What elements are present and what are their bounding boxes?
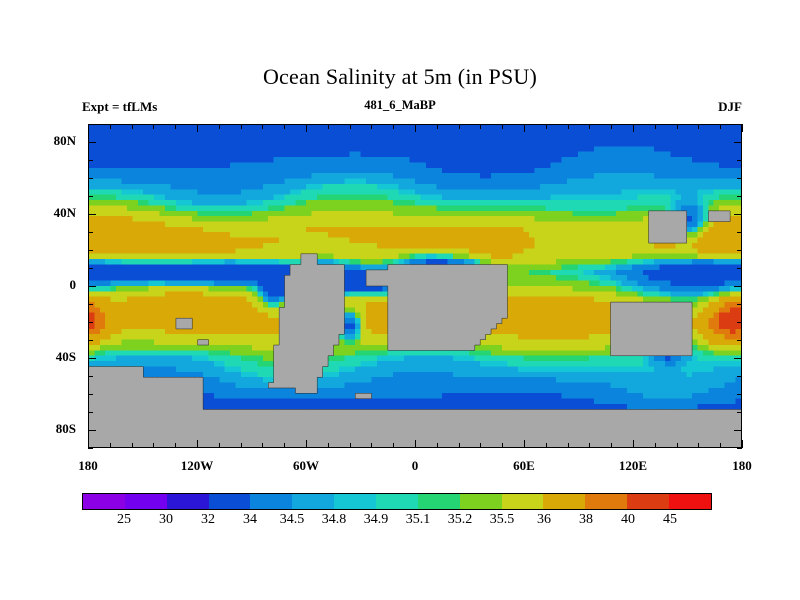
y-axis-minor-tick (737, 178, 742, 179)
y-axis-minor-tick (737, 160, 742, 161)
colorbar-tick-label: 34.9 (364, 512, 389, 528)
x-axis-minor-tick (153, 124, 154, 129)
y-axis-minor-tick (88, 196, 93, 197)
colorbar-swatch (334, 494, 376, 509)
y-axis-major-tick (734, 286, 742, 287)
x-axis-minor-tick (677, 124, 678, 129)
colorbar-labels: 2530323434.534.834.935.135.235.536384045 (0, 512, 800, 534)
x-axis-minor-tick (698, 443, 699, 448)
y-axis-major-tick (88, 358, 96, 359)
colorbar-swatch (418, 494, 460, 509)
x-axis-minor-tick (480, 443, 481, 448)
colorbar-tick-label: 38 (579, 512, 593, 528)
x-axis-minor-tick (328, 443, 329, 448)
y-axis-major-tick (88, 142, 96, 143)
y-axis-major-tick (88, 286, 96, 287)
x-axis-minor-tick (480, 124, 481, 129)
x-axis-minor-tick (720, 124, 721, 129)
x-axis-minor-tick (132, 124, 133, 129)
x-axis-minor-tick (350, 124, 351, 129)
x-axis-minor-tick (153, 443, 154, 448)
x-axis-minor-tick (655, 443, 656, 448)
x-axis-minor-tick (371, 124, 372, 129)
y-axis-minor-tick (88, 376, 93, 377)
y-axis-minor-tick (88, 322, 93, 323)
y-axis-major-tick (734, 430, 742, 431)
x-axis-minor-tick (262, 443, 263, 448)
x-axis-minor-tick (175, 124, 176, 129)
x-axis-major-tick (88, 440, 89, 448)
y-axis-minor-tick (737, 412, 742, 413)
x-axis-minor-tick (393, 443, 394, 448)
y-axis-minor-tick (88, 160, 93, 161)
x-axis-minor-tick (393, 124, 394, 129)
y-axis-tick-label: 40S (30, 349, 76, 365)
x-axis-minor-tick (284, 443, 285, 448)
x-axis-minor-tick (350, 443, 351, 448)
x-axis-minor-tick (262, 124, 263, 129)
x-axis-major-tick (306, 440, 307, 448)
x-axis-minor-tick (589, 124, 590, 129)
y-axis-minor-tick (737, 448, 742, 449)
x-axis-tick-label: 60W (276, 458, 336, 474)
x-axis-minor-tick (698, 124, 699, 129)
x-axis-minor-tick (655, 124, 656, 129)
x-axis-minor-tick (720, 443, 721, 448)
x-axis-minor-tick (546, 124, 547, 129)
colorbar-tick-label: 35.2 (448, 512, 473, 528)
colorbar (82, 493, 712, 510)
y-axis-minor-tick (737, 232, 742, 233)
colorbar-swatch (460, 494, 502, 509)
colorbar-swatch (585, 494, 627, 509)
y-axis-tick-label: 80S (30, 421, 76, 437)
x-axis-major-tick (633, 124, 634, 132)
x-axis-minor-tick (241, 443, 242, 448)
y-axis-minor-tick (88, 250, 93, 251)
y-axis-major-tick (734, 358, 742, 359)
x-axis-minor-tick (110, 124, 111, 129)
x-axis-minor-tick (437, 124, 438, 129)
colorbar-tick-label: 35.5 (490, 512, 515, 528)
colorbar-swatch (376, 494, 418, 509)
x-axis-minor-tick (132, 443, 133, 448)
x-axis-major-tick (524, 440, 525, 448)
y-axis-minor-tick (88, 268, 93, 269)
figure-canvas: Ocean Salinity at 5m (in PSU) Expt = tfL… (0, 0, 800, 600)
colorbar-tick-label: 32 (201, 512, 215, 528)
x-axis-minor-tick (459, 443, 460, 448)
y-axis-minor-tick (88, 340, 93, 341)
x-axis-minor-tick (175, 443, 176, 448)
y-axis-minor-tick (737, 376, 742, 377)
x-axis-major-tick (524, 124, 525, 132)
colorbar-swatch (83, 494, 125, 509)
y-axis-tick-label: 0 (30, 277, 76, 293)
colorbar-swatch (250, 494, 292, 509)
colorbar-tick-label: 30 (159, 512, 173, 528)
x-axis-tick-label: 60E (494, 458, 554, 474)
x-axis-minor-tick (241, 124, 242, 129)
x-axis-minor-tick (546, 443, 547, 448)
page-title: Ocean Salinity at 5m (in PSU) (0, 64, 800, 90)
colorbar-tick-label: 34.5 (280, 512, 305, 528)
colorbar-tick-label: 34 (243, 512, 257, 528)
x-axis-minor-tick (611, 124, 612, 129)
x-axis-major-tick (197, 124, 198, 132)
colorbar-tick-label: 34.8 (322, 512, 347, 528)
x-axis-tick-label: 180 (712, 458, 772, 474)
y-axis-tick-label: 40N (30, 205, 76, 221)
y-axis-minor-tick (88, 232, 93, 233)
x-axis-minor-tick (437, 443, 438, 448)
x-axis-major-tick (415, 124, 416, 132)
x-axis-minor-tick (589, 443, 590, 448)
y-axis-minor-tick (737, 340, 742, 341)
x-axis-minor-tick (371, 443, 372, 448)
colorbar-swatch (292, 494, 334, 509)
x-axis-minor-tick (110, 443, 111, 448)
x-axis-major-tick (415, 440, 416, 448)
x-axis-minor-tick (568, 443, 569, 448)
y-axis-minor-tick (737, 250, 742, 251)
y-axis-minor-tick (737, 304, 742, 305)
x-axis-major-tick (742, 440, 743, 448)
x-axis-minor-tick (568, 124, 569, 129)
salinity-contour-map (89, 125, 741, 447)
x-axis-minor-tick (502, 124, 503, 129)
x-axis-major-tick (633, 440, 634, 448)
y-axis-major-tick (734, 142, 742, 143)
x-axis-tick-label: 120E (603, 458, 663, 474)
x-axis-tick-label: 180 (58, 458, 118, 474)
map-plot-area (88, 124, 742, 448)
x-axis-minor-tick (502, 443, 503, 448)
colorbar-swatch (209, 494, 251, 509)
x-axis-major-tick (306, 124, 307, 132)
y-axis-minor-tick (737, 394, 742, 395)
x-axis-minor-tick (328, 124, 329, 129)
colorbar-tick-label: 25 (117, 512, 131, 528)
colorbar-tick-label: 40 (621, 512, 635, 528)
colorbar-tick-label: 35.1 (406, 512, 431, 528)
colorbar-swatch (627, 494, 669, 509)
x-axis-major-tick (197, 440, 198, 448)
y-axis-minor-tick (88, 412, 93, 413)
colorbar-swatch (125, 494, 167, 509)
x-axis-minor-tick (219, 443, 220, 448)
x-axis-tick-label: 120W (167, 458, 227, 474)
colorbar-tick-label: 45 (663, 512, 677, 528)
x-axis-minor-tick (677, 443, 678, 448)
y-axis-major-tick (88, 214, 96, 215)
y-axis-tick-label: 80N (30, 133, 76, 149)
colorbar-swatch (502, 494, 544, 509)
season-label: DJF (660, 99, 742, 115)
y-axis-major-tick (734, 214, 742, 215)
y-axis-minor-tick (88, 304, 93, 305)
x-axis-major-tick (88, 124, 89, 132)
y-axis-minor-tick (88, 448, 93, 449)
y-axis-minor-tick (737, 268, 742, 269)
x-axis-minor-tick (284, 124, 285, 129)
colorbar-swatch (167, 494, 209, 509)
x-axis-major-tick (742, 124, 743, 132)
y-axis-minor-tick (737, 322, 742, 323)
x-axis-minor-tick (611, 443, 612, 448)
y-axis-minor-tick (88, 178, 93, 179)
colorbar-swatch (543, 494, 585, 509)
colorbar-swatch (669, 494, 711, 509)
y-axis-major-tick (88, 430, 96, 431)
y-axis-minor-tick (737, 196, 742, 197)
x-axis-tick-label: 0 (385, 458, 445, 474)
x-axis-minor-tick (459, 124, 460, 129)
y-axis-minor-tick (88, 394, 93, 395)
colorbar-tick-label: 36 (537, 512, 551, 528)
x-axis-minor-tick (219, 124, 220, 129)
